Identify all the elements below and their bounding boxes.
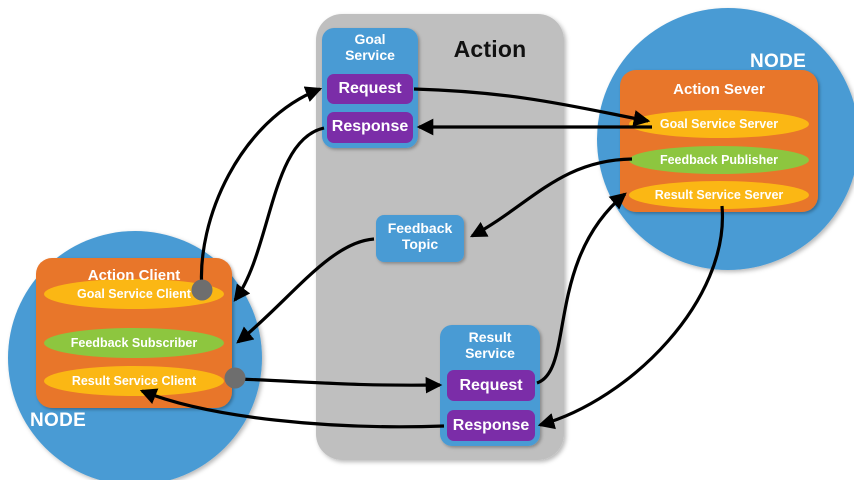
server-entity-feedback-publisher[interactable]: Feedback Publisher	[629, 153, 809, 167]
client-entity-feedback-subscriber[interactable]: Feedback Subscriber	[44, 336, 224, 350]
server-entity-goal-service-server[interactable]: Goal Service Server	[629, 117, 809, 131]
label-layer: Action Goal Service Request Response Fee…	[0, 0, 854, 480]
client-entity-result-service-client[interactable]: Result Service Client	[44, 374, 224, 388]
action-client-title: Action Client	[36, 268, 232, 285]
action-panel-title: Action	[424, 37, 556, 63]
client-node-label: NODE	[30, 410, 120, 431]
goal-service-title: Goal Service	[322, 32, 418, 63]
result-service-response-label: Response	[447, 417, 535, 435]
server-entity-result-service-server[interactable]: Result Service Server	[629, 188, 809, 202]
result-service-title: Result Service	[440, 330, 540, 361]
server-node-label: NODE	[750, 51, 830, 72]
feedback-topic-label: Feedback Topic	[376, 221, 464, 252]
result-service-request-label: Request	[447, 377, 535, 395]
diagram-canvas: Action Goal Service Request Response Fee…	[0, 0, 854, 480]
action-server-title: Action Sever	[620, 82, 818, 99]
goal-service-request-label: Request	[327, 80, 413, 98]
goal-service-response-label: Response	[327, 118, 413, 136]
client-entity-goal-service-client[interactable]: Goal Service Client	[44, 287, 224, 301]
